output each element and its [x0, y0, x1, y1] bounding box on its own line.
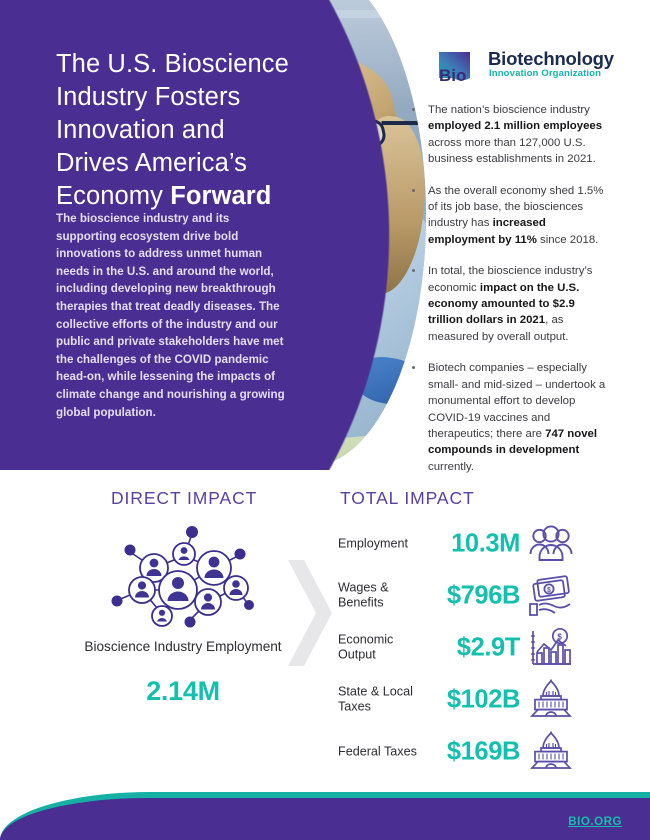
bio-org-link[interactable]: BIO.ORG — [568, 815, 622, 828]
svg-text:$: $ — [557, 632, 562, 641]
logo-tagline: Innovation Organization — [489, 68, 601, 79]
impact-row: State & Local Taxes $102B — [338, 674, 578, 726]
bar-chart-dollar-icon: $ — [528, 627, 574, 669]
key-fact-item: In total, the bioscience industry’s econ… — [410, 263, 610, 345]
bio-logo-mark: Bio — [436, 48, 480, 86]
total-impact-rows: Employment 10.3M Wages & Benefits $796B — [338, 518, 578, 778]
impact-row-value: $102B — [424, 686, 520, 715]
capitol-building-icon — [528, 679, 574, 721]
direct-impact-value: 2.14M — [60, 676, 306, 707]
impact-row: Federal Taxes $169B — [338, 726, 578, 778]
capitol-building-icon — [528, 731, 574, 773]
impact-row-value: $796B — [424, 582, 520, 611]
title-emphasis: Forward — [170, 182, 271, 210]
hand-money-icon: $ — [528, 575, 574, 617]
impact-row: Employment 10.3M — [338, 518, 578, 570]
key-fact-emphasis: employed 2.1 million employees — [428, 120, 602, 132]
impact-row: Economic Output $2.9T — [338, 622, 578, 674]
key-facts-list: The nation’s bioscience industry employe… — [410, 102, 610, 490]
impact-row-label: Wages & Benefits — [338, 581, 424, 612]
hero-body-text: The bioscience industry and its supporti… — [56, 210, 288, 421]
impact-row-label: Federal Taxes — [338, 744, 424, 759]
title-line: Economy — [56, 182, 170, 210]
impact-row-label: State & Local Taxes — [338, 685, 424, 716]
footer: BIO.ORG — [0, 792, 650, 840]
key-fact-item: Biotech companies – especially small- an… — [410, 360, 610, 475]
infographic-page: The U.S. Bioscience Industry Fosters Inn… — [0, 0, 650, 840]
svg-text:$: $ — [547, 587, 551, 594]
impact-row-value: 10.3M — [424, 530, 520, 559]
people-network-icon — [96, 516, 276, 646]
bio-logo[interactable]: Bio Biotechnology Innovation Organizatio… — [436, 46, 606, 90]
svg-text:Bio: Bio — [439, 66, 466, 85]
key-fact-item: The nation’s bioscience industry employe… — [410, 102, 610, 168]
key-fact-text: across more than 127,000 U.S. business e… — [428, 137, 596, 165]
bullet-dot-icon — [412, 108, 415, 111]
logo-name: Biotechnology — [488, 48, 614, 70]
impact-row-label: Economic Output — [338, 633, 424, 664]
footer-purple-band — [0, 798, 650, 840]
three-people-icon — [528, 523, 574, 565]
bullet-dot-icon — [412, 366, 415, 369]
direct-impact-label: Bioscience Industry Employment — [60, 638, 306, 656]
key-fact-item: As the overall economy shed 1.5% of its … — [410, 183, 610, 249]
direct-impact-heading: DIRECT IMPACT — [111, 488, 257, 509]
key-fact-text: The nation’s bioscience industry — [428, 104, 590, 116]
total-impact-heading: TOTAL IMPACT — [340, 488, 475, 509]
bullet-dot-icon — [412, 269, 415, 272]
impact-row-value: $169B — [424, 738, 520, 767]
title-line: Innovation and — [56, 116, 225, 144]
key-fact-text: currently. — [428, 461, 474, 473]
right-arrow-chevron-icon — [288, 560, 332, 666]
impact-row: Wages & Benefits $796B $ — [338, 570, 578, 622]
key-fact-text: since 2018. — [537, 234, 598, 246]
title-line: Drives America’s — [56, 149, 247, 177]
title-line: Industry Fosters — [56, 83, 240, 111]
page-title: The U.S. Bioscience Industry Fosters Inn… — [56, 48, 356, 213]
title-line: The U.S. Bioscience — [56, 50, 289, 78]
bullet-dot-icon — [412, 189, 415, 192]
impact-row-label: Employment — [338, 536, 434, 551]
impact-row-value: $2.9T — [424, 634, 520, 663]
